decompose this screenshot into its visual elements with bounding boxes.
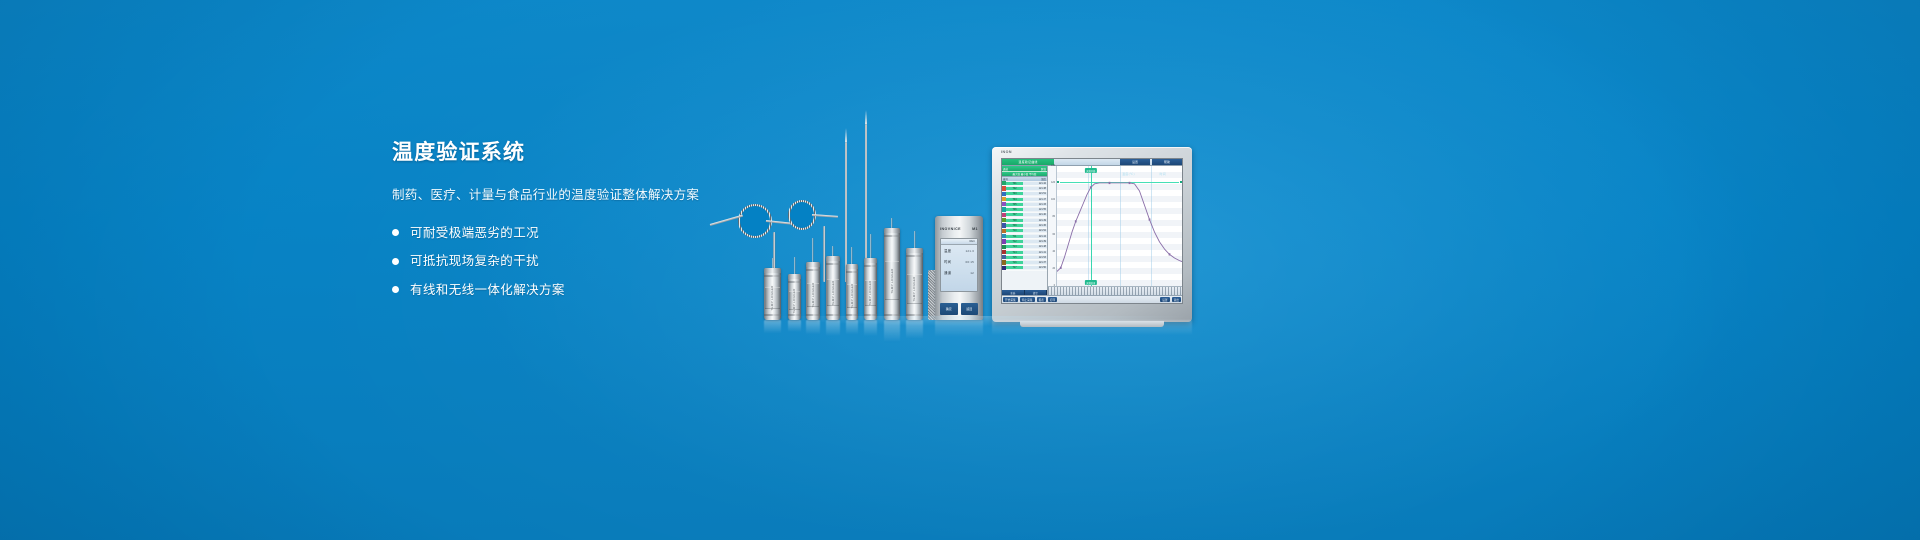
temperature-curve xyxy=(1057,166,1182,286)
reader-keypad[interactable]: 确定返回 xyxy=(940,303,978,315)
logger-cap xyxy=(884,228,900,233)
channel-name: T02 xyxy=(1006,187,1023,190)
logger-label-text: TEMP LOGGER xyxy=(831,280,835,305)
screen-title: 温度验证曲线 xyxy=(1002,159,1054,165)
screen-toolbar-top[interactable]: 温度验证曲线 设置帮助 xyxy=(1002,159,1182,166)
logger-ring-bottom xyxy=(864,314,877,316)
logger-label-text: TEMP LOGGER xyxy=(792,288,796,313)
bottom-toolbar-button[interactable]: 停止采集 xyxy=(1020,297,1035,302)
logger-ring-top xyxy=(788,281,801,283)
needle-probe-tall xyxy=(845,142,847,282)
channel-name: T10 xyxy=(1006,229,1023,232)
logger-stem xyxy=(794,257,795,274)
y-axis-tick-label: 60 xyxy=(1052,234,1055,236)
channel-value: 121.33 xyxy=(1023,203,1047,206)
toolbar-spacer xyxy=(1054,159,1118,165)
channel-name: T01 xyxy=(1006,182,1023,185)
logger-stem xyxy=(812,238,813,262)
reader-model-text: M1 xyxy=(972,227,978,231)
reader-readout-value: 121.3 xyxy=(965,249,974,253)
x-axis xyxy=(1048,286,1182,295)
plot-canvas[interactable]: 灭菌开始 灭菌结束 温度(℃) 时间 xyxy=(1057,166,1182,286)
reader-readout-row: 温度121.3 xyxy=(941,245,977,256)
curve-sample-marker xyxy=(1075,220,1077,222)
handheld-reader[interactable]: INOVNICE M1 REC 温度121.3时间00:15通道12 确定返回 xyxy=(935,216,983,320)
channel-row[interactable]: T17121.50 xyxy=(1002,266,1047,271)
x-axis-ticks xyxy=(1048,287,1182,295)
data-logger: TEMP LOGGER xyxy=(806,262,820,320)
logger-ring-top xyxy=(764,275,781,277)
logger-ring-top xyxy=(864,265,877,267)
reader-brand-row: INOVNICE M1 xyxy=(940,227,978,231)
plot-container: 020406080100120140 灭菌开始 灭菌结束 xyxy=(1048,166,1182,295)
logger-label-text: TEMP LOGGER xyxy=(912,276,916,301)
logger-label-band: TEMP LOGGER xyxy=(907,274,921,304)
logger-ring-bottom xyxy=(764,314,781,316)
logger-ring-top xyxy=(846,271,858,273)
curve-sample-marker xyxy=(1109,182,1111,184)
bottom-toolbar-button[interactable]: 退出 xyxy=(1172,297,1181,302)
screen-toolbar-buttons[interactable]: 设置帮助 xyxy=(1118,159,1182,165)
channel-value: 121.51 xyxy=(1023,192,1047,195)
channel-value: 121.50 xyxy=(1023,266,1047,269)
screen-toolbar-button[interactable]: 设置 xyxy=(1120,159,1150,165)
data-logger: TEMP LOGGER xyxy=(884,228,900,320)
feature-item-label: 可抵抗现场复杂的干扰 xyxy=(410,255,539,268)
logger-label-band: TEMP LOGGER xyxy=(885,261,898,300)
reader-readout-label: 温度 xyxy=(944,248,951,253)
reader-readout-row: 通道12 xyxy=(941,267,977,278)
data-logger: TEMP LOGGER xyxy=(846,264,858,320)
reader-key-button[interactable]: 确定 xyxy=(940,303,958,315)
y-axis-tick-label: 20 xyxy=(1052,268,1055,270)
logger-ring-bottom xyxy=(906,314,923,316)
data-logger: TEMP LOGGER xyxy=(906,248,923,320)
curve-sample-marker xyxy=(1129,182,1131,184)
channel-header-left: 通道 xyxy=(1003,167,1008,171)
channel-value: 121.38 xyxy=(1023,187,1047,190)
channel-name: T15 xyxy=(1006,256,1023,259)
channel-row-list[interactable]: T01121.42T02121.38T03121.51T04121.47T051… xyxy=(1002,181,1047,290)
logger-cap xyxy=(806,262,820,267)
bottom-toolbar-button[interactable]: 打印 xyxy=(1048,297,1057,302)
logger-label-band: TEMP LOGGER xyxy=(847,284,857,308)
y-axis-tick-label: 100 xyxy=(1051,199,1055,201)
channel-name: T08 xyxy=(1006,219,1023,222)
bottom-toolbar-button[interactable]: 设置 xyxy=(1160,297,1169,302)
channel-value: 121.47 xyxy=(1023,198,1047,201)
logger-stem xyxy=(914,231,915,248)
reader-readout-list: 温度121.3时间00:15通道12 xyxy=(941,245,977,278)
channel-value: 121.42 xyxy=(1023,182,1047,185)
logger-cap xyxy=(764,268,781,273)
logger-label-band: TEMP LOGGER xyxy=(807,283,819,307)
channel-name: T07 xyxy=(1006,213,1023,216)
data-logger: TEMP LOGGER xyxy=(788,274,801,320)
channel-name: T11 xyxy=(1006,235,1023,238)
screen-body: 通道 数值 最大值 最小值 平均值 编号 温度 T01121.42T02121.… xyxy=(1002,166,1182,295)
bottom-toolbar-button[interactable]: 开始采集 xyxy=(1003,297,1018,302)
monitor-screen[interactable]: 温度验证曲线 设置帮助 通道 数值 最大值 最小值 平均值 编号 温度 xyxy=(1001,158,1183,304)
logger-label-band: TEMP LOGGER xyxy=(865,280,876,306)
logger-label-band: TEMP LOGGER xyxy=(789,291,800,310)
logger-ring-bottom xyxy=(884,314,900,316)
logger-ring-top xyxy=(826,263,840,265)
channel-value: 121.37 xyxy=(1023,261,1047,264)
bottom-toolbar-button[interactable]: 报表 xyxy=(1037,297,1046,302)
logger-ring-bottom xyxy=(806,314,820,316)
logger-stem xyxy=(891,218,892,228)
channel-name: T06 xyxy=(1006,208,1023,211)
channel-value: 121.53 xyxy=(1023,256,1047,259)
channel-panel[interactable]: 通道 数值 最大值 最小值 平均值 编号 温度 T01121.42T02121.… xyxy=(1002,166,1048,295)
channel-name: T13 xyxy=(1006,245,1023,248)
channel-name: T12 xyxy=(1006,240,1023,243)
channel-value: 121.36 xyxy=(1023,224,1047,227)
curve-sample-marker xyxy=(1090,186,1092,188)
y-axis-tick-label: 40 xyxy=(1052,251,1055,253)
logger-ring-bottom xyxy=(846,314,858,316)
logger-label-text: TEMP LOGGER xyxy=(890,268,894,293)
logger-label-text: TEMP LOGGER xyxy=(770,285,774,310)
reader-readout-value: 00:15 xyxy=(965,260,974,264)
product-group: TEMP LOGGERTEMP LOGGERTEMP LOGGERTEMP LO… xyxy=(700,120,1260,320)
logger-cap xyxy=(788,274,801,279)
channel-value: 121.40 xyxy=(1023,213,1047,216)
reader-brand-text: INOVNICE xyxy=(940,227,961,231)
logger-stem xyxy=(851,247,852,264)
data-logger: TEMP LOGGER xyxy=(764,268,781,320)
channel-value: 121.55 xyxy=(1023,208,1047,211)
logger-label-band: TEMP LOGGER xyxy=(827,279,839,306)
logger-cap xyxy=(906,248,923,253)
channel-value: 121.48 xyxy=(1023,245,1047,248)
y-axis-tick-label: 120 xyxy=(1051,182,1055,184)
bullet-dot-icon xyxy=(392,258,399,265)
logger-ring-bottom xyxy=(788,314,801,316)
monitor-stand xyxy=(1020,321,1164,327)
channel-value: 121.39 xyxy=(1023,240,1047,243)
reader-readout-row: 时间00:15 xyxy=(941,256,977,267)
reader-readout-label: 时间 xyxy=(944,259,951,264)
logger-ring-top xyxy=(906,255,923,257)
channel-name: T04 xyxy=(1006,198,1023,201)
channel-value: 121.41 xyxy=(1023,251,1047,254)
channel-value: 121.44 xyxy=(1023,235,1047,238)
curve-sample-marker xyxy=(1169,253,1171,255)
logger-ring-top xyxy=(806,269,820,271)
channel-value: 121.49 xyxy=(1023,219,1047,222)
logger-label-text: TEMP LOGGER xyxy=(850,283,854,308)
reader-readout-label: 通道 xyxy=(944,270,951,275)
screen-toolbar-button[interactable]: 帮助 xyxy=(1152,159,1182,165)
bullet-dot-icon xyxy=(392,286,399,293)
probe-stem-small xyxy=(823,226,825,282)
channel-name: T17 xyxy=(1006,266,1023,269)
reader-readout-value: 12 xyxy=(970,271,974,275)
bottom-toolbar-spacer xyxy=(1058,296,1159,303)
y-axis: 020406080100120140 xyxy=(1048,166,1057,286)
logger-label-text: TEMP LOGGER xyxy=(811,282,815,307)
y-axis-tick-label: 140 xyxy=(1051,165,1055,167)
data-logger: TEMP LOGGER xyxy=(826,256,840,320)
feature-item-label: 可耐受极端恶劣的工况 xyxy=(410,227,539,240)
panel-monitor[interactable]: INON 温度验证曲线 设置帮助 通道 数值 最大值 最小值 平均值 xyxy=(992,147,1192,322)
channel-name: T05 xyxy=(1006,203,1023,206)
bullet-dot-icon xyxy=(392,229,399,236)
curve-sample-marker xyxy=(1149,218,1151,220)
channel-name: T16 xyxy=(1006,261,1023,264)
reader-status-text: REC xyxy=(970,240,975,243)
channel-name: T14 xyxy=(1006,251,1023,254)
logger-ring-bottom xyxy=(826,314,840,316)
logger-label-text: TEMP LOGGER xyxy=(868,280,872,305)
logger-stem xyxy=(870,234,871,258)
reader-key-button[interactable]: 返回 xyxy=(961,303,979,315)
channel-name: T09 xyxy=(1006,224,1023,227)
logger-cap xyxy=(846,264,858,269)
plot-area: 020406080100120140 灭菌开始 灭菌结束 xyxy=(1048,166,1182,286)
channel-value: 121.52 xyxy=(1023,229,1047,232)
logger-label-band: TEMP LOGGER xyxy=(765,287,779,309)
logger-cap xyxy=(826,256,840,261)
logger-ring-top xyxy=(884,235,900,237)
monitor-brand-text: INON xyxy=(1001,150,1012,154)
reader-screen: REC 温度121.3时间00:15通道12 xyxy=(940,238,978,292)
data-logger: TEMP LOGGER xyxy=(864,258,877,320)
channel-header-right: 数值 xyxy=(1041,167,1046,171)
product-banner: 温度验证系统 制药、医疗、计量与食品行业的温度验证整体解决方案 可耐受极端恶劣的… xyxy=(0,0,1920,540)
y-axis-tick-label: 80 xyxy=(1052,216,1055,218)
logger-stem xyxy=(832,246,833,256)
screen-toolbar-bottom[interactable]: 开始采集停止采集报表打印设置退出 xyxy=(1002,295,1182,303)
logger-cap xyxy=(864,258,877,263)
feature-item-label: 有线和无线一体化解决方案 xyxy=(410,284,565,297)
channel-name: T03 xyxy=(1006,192,1023,195)
curve-sample-marker xyxy=(1060,267,1062,269)
